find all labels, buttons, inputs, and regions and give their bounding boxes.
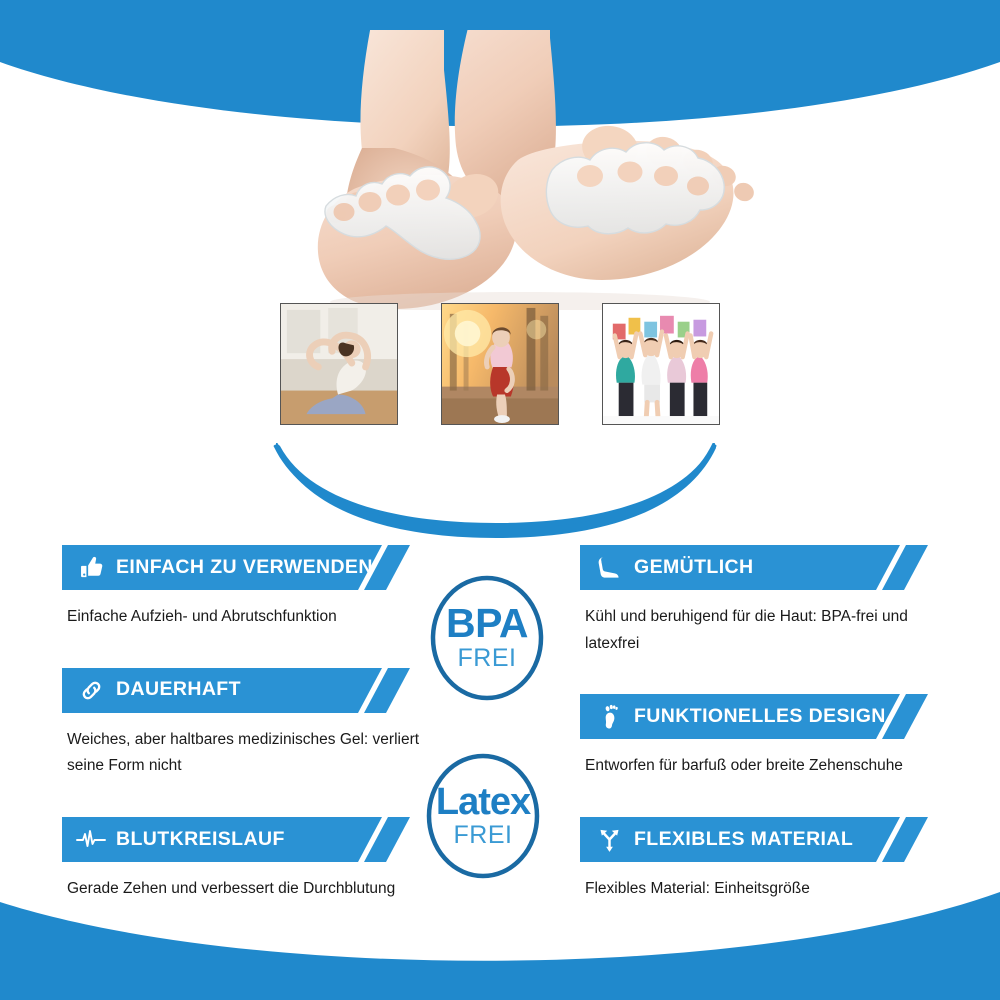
feature-description: Entworfen für barfuß oder breite Zehensc…: [580, 753, 957, 780]
badge-line-2: FREI: [458, 645, 517, 671]
running-thumbnail: [441, 303, 559, 425]
badge-line-2: FREI: [454, 822, 513, 848]
feature-title: FLEXIBLES MATERIAL: [634, 830, 853, 850]
chain-link-icon: [76, 675, 106, 705]
lifestyle-thumbnail-row: [280, 303, 720, 428]
feature-einfach-zu-verwenden: EINFACH ZU VERWENDEN Einfache Aufzieh- u…: [62, 545, 452, 631]
feature-description: Kühl und beruhigend für die Haut: BPA-fr…: [580, 604, 957, 657]
feature-description: Gerade Zehen und verbessert die Durchblu…: [62, 876, 439, 903]
feature-title: EINFACH ZU VERWENDEN: [116, 558, 373, 578]
feature-column-right: GEMÜTLICH Kühl und beruhigend für die Ha…: [580, 545, 970, 903]
bpa-free-badge: BPA FREI: [428, 574, 546, 702]
ribbon-header: FLEXIBLES MATERIAL: [580, 817, 970, 862]
feature-column-left: EINFACH ZU VERWENDEN Einfache Aufzieh- u…: [62, 545, 452, 903]
feature-description: Weiches, aber haltbares medizinisches Ge…: [62, 727, 439, 780]
thumbs-up-icon: [76, 553, 106, 583]
feature-title: BLUTKREISLAUF: [116, 830, 285, 850]
feature-description: Einfache Aufzieh- und Abrutschfunktion: [62, 604, 439, 631]
heartbeat-pulse-icon: [76, 824, 106, 854]
feature-title: GEMÜTLICH: [634, 558, 754, 578]
latex-free-badge: Latex FREI: [424, 752, 542, 880]
feature-title: DAUERHAFT: [116, 680, 241, 700]
feature-description: Flexibles Material: Einheitsgröße: [580, 876, 957, 903]
hero-product-image: [0, 30, 1000, 310]
badge-line-1: BPA: [446, 604, 528, 643]
feature-gemuetlich: GEMÜTLICH Kühl und beruhigend für die Ha…: [580, 545, 970, 657]
flexible-arrows-icon: [594, 824, 624, 854]
badge-line-1: Latex: [436, 784, 530, 820]
ribbon-header: EINFACH ZU VERWENDEN: [62, 545, 452, 590]
product-infographic: EINFACH ZU VERWENDEN Einfache Aufzieh- u…: [0, 0, 1000, 1000]
happy-foot-icon: [594, 553, 624, 583]
ribbon-header: DAUERHAFT: [62, 668, 452, 713]
feature-title: FUNKTIONELLES DESIGN: [634, 707, 886, 727]
ribbon-header: GEMÜTLICH: [580, 545, 970, 590]
shopping-thumbnail: [602, 303, 720, 425]
blue-arc-swoosh: [270, 443, 720, 538]
feature-dauerhaft: DAUERHAFT Weiches, aber haltbares medizi…: [62, 668, 452, 780]
feature-funktionelles-design: FUNKTIONELLES DESIGN Entworfen für barfu…: [580, 694, 970, 780]
ribbon-header: FUNKTIONELLES DESIGN: [580, 694, 970, 739]
yoga-thumbnail: [280, 303, 398, 425]
footprint-icon: [594, 702, 624, 732]
feature-blutkreislauf: BLUTKREISLAUF Gerade Zehen und verbesser…: [62, 817, 452, 903]
feature-flexibles-material: FLEXIBLES MATERIAL Flexibles Material: E…: [580, 817, 970, 903]
ribbon-header: BLUTKREISLAUF: [62, 817, 452, 862]
